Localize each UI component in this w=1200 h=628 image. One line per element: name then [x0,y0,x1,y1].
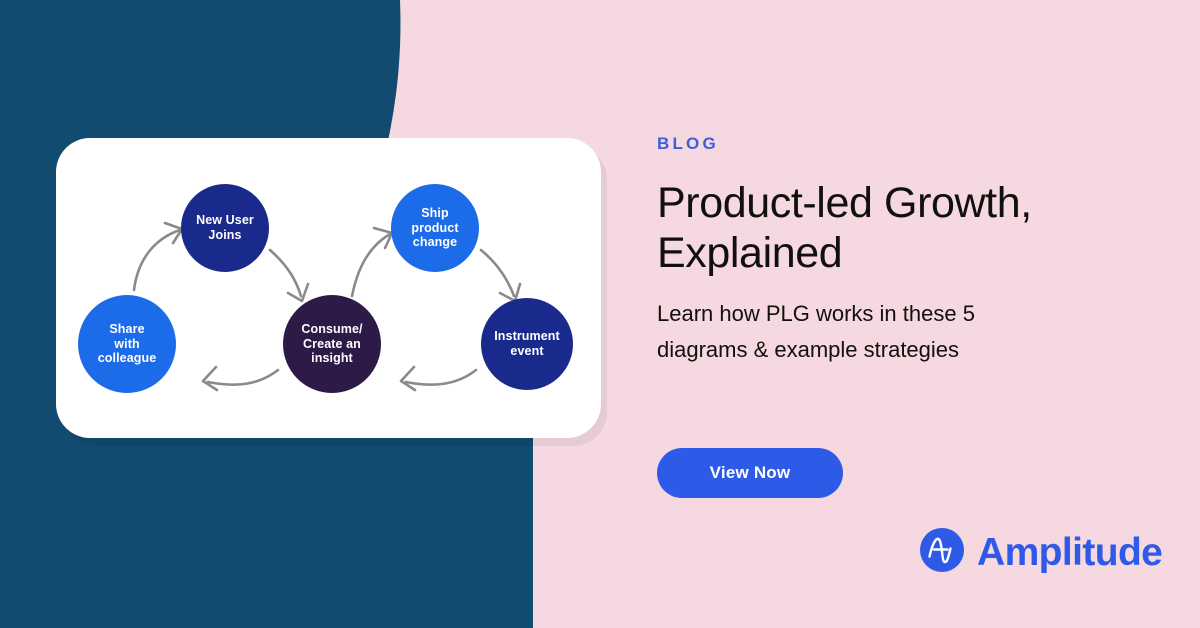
arrow-share-to-newuser [134,230,180,290]
diagram-node-instrument-event: Instrumentevent [481,298,573,390]
arrow-instrument-to-consume [406,370,476,385]
arrow-newuser-to-consume [270,250,301,296]
amplitude-wordmark: Amplitude [977,531,1162,575]
subheadline: Learn how PLG works in these 5 diagrams … [657,296,977,367]
diagram-node-label: Consume/Create aninsight [301,322,362,366]
diagram-node-label: Sharewithcolleague [98,322,157,366]
promo-panel: BLOG Product-led Growth, Explained Learn… [657,0,1200,628]
amplitude-logo-icon [920,528,964,577]
amplitude-logo[interactable]: Amplitude [920,528,1162,577]
diagram-card: New UserJoinsShipproductchangeInstrument… [56,138,601,438]
diagram-node-consume-insight: Consume/Create aninsight [283,295,381,393]
diagram-node-label: Instrumentevent [494,329,560,359]
arrow-ship-to-instrument [481,250,514,296]
diagram-node-label: New UserJoins [196,213,254,243]
eyebrow-label: BLOG [657,134,719,154]
page-title: Product-led Growth, Explained [657,178,1127,279]
arrow-consume-to-share [208,370,278,385]
diagram-node-share-colleague: Sharewithcolleague [78,295,176,393]
arrowhead-instrument-to-consume [401,367,415,390]
diagram-node-label: Shipproductchange [411,206,458,250]
arrow-consume-to-ship [352,234,390,296]
view-now-button[interactable]: View Now [657,448,843,498]
diagram-node-ship-product: Shipproductchange [391,184,479,272]
diagram-node-new-user-joins: New UserJoins [181,184,269,272]
arrowhead-consume-to-share [203,367,217,390]
plg-loop-diagram [56,138,601,438]
